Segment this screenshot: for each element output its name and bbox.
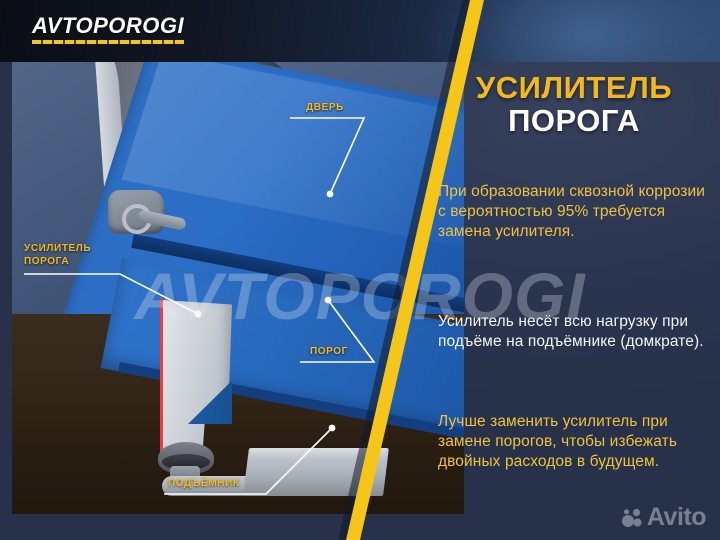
avito-watermark: Avito bbox=[621, 503, 706, 532]
brand-logo: AVTOPOROGI bbox=[32, 14, 184, 44]
callout-label-lift: ПОДЪЁМНИК bbox=[168, 478, 240, 491]
page-title: УСИЛИТЕЛЬ ПОРОГА bbox=[438, 72, 710, 137]
page-title-line2: ПОРОГА bbox=[438, 105, 710, 137]
diagram-photo: ДВЕРЬ УСИЛИТЕЛЬ ПОРОГА ПОРОГ ПОДЪЁМНИК bbox=[12, 62, 464, 514]
paragraph-load: Усилитель несёт всю нагрузку при подъёме… bbox=[438, 312, 710, 352]
paragraph-advice: Лучше заменить усилитель при замене поро… bbox=[438, 412, 710, 472]
brand-logo-text: AVTOPOROGI bbox=[32, 14, 184, 37]
paragraph-corrosion: При образовании сквозной коррозии с веро… bbox=[438, 182, 710, 242]
page-title-line1: УСИЛИТЕЛЬ bbox=[438, 72, 710, 104]
avito-watermark-label: Avito bbox=[647, 503, 706, 532]
avito-dots-icon bbox=[621, 508, 643, 528]
callout-label-reinforcer-line1: УСИЛИТЕЛЬ bbox=[24, 243, 91, 254]
callout-label-reinforcer: УСИЛИТЕЛЬ ПОРОГА bbox=[24, 242, 91, 268]
callout-label-reinforcer-line2: ПОРОГА bbox=[24, 256, 69, 267]
header-strip: AVTOPOROGI bbox=[0, 0, 720, 62]
brand-logo-underline bbox=[32, 40, 184, 44]
callout-label-door: ДВЕРЬ bbox=[306, 102, 344, 115]
poster-root: AVTOPOROGI bbox=[0, 0, 720, 540]
callout-label-sill: ПОРОГ bbox=[310, 346, 348, 359]
header-glow bbox=[420, 0, 720, 62]
callout-leader-lines bbox=[12, 62, 464, 514]
text-column: УСИЛИТЕЛЬ ПОРОГА При образовании сквозно… bbox=[438, 72, 710, 137]
